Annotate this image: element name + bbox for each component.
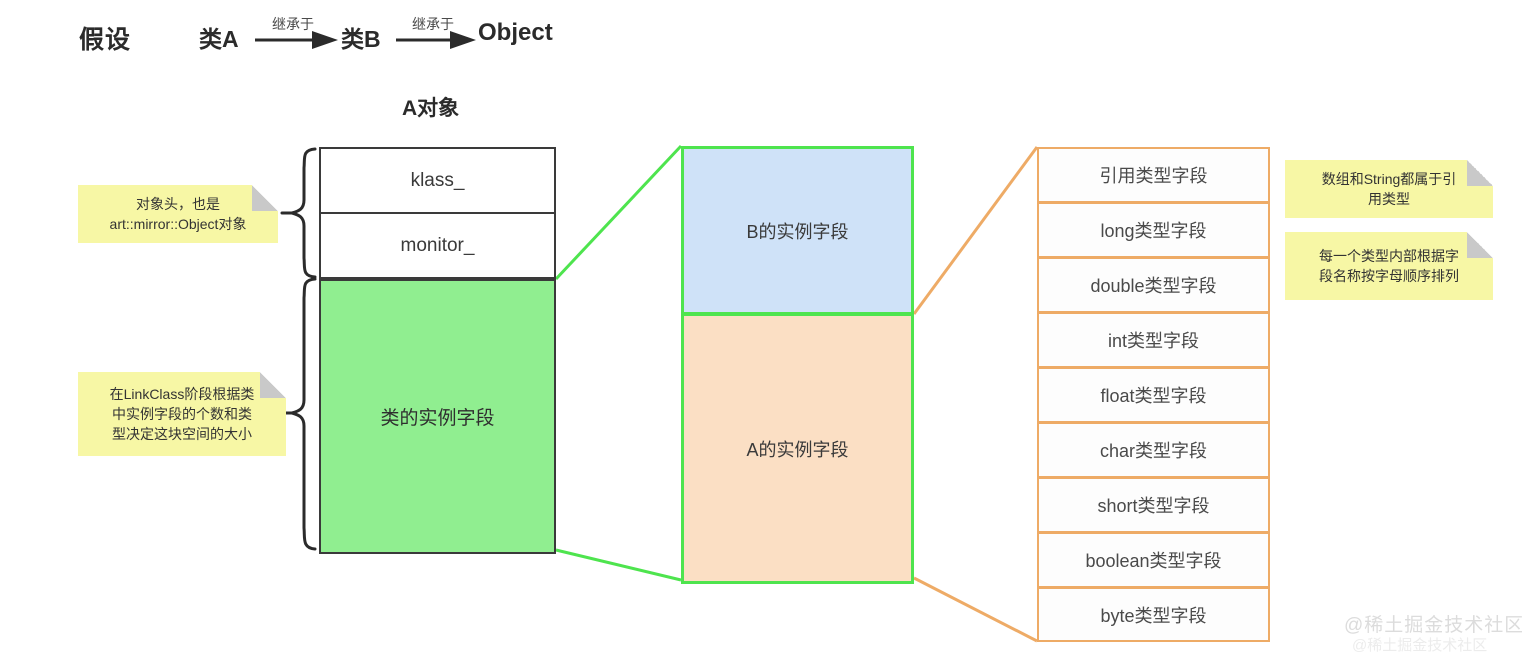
note-reference-type-text: 数组和String都属于引 用类型 (1322, 169, 1457, 210)
note-fold-corner-icon (260, 372, 286, 398)
note-fold-corner-icon (252, 185, 278, 211)
object-cell-klass: klass_ (319, 147, 556, 213)
field-row: int类型字段 (1037, 312, 1270, 367)
field-row: char类型字段 (1037, 422, 1270, 477)
assume-label: 假设 (79, 20, 131, 56)
note-linkclass: 在LinkClass阶段根据类 中实例字段的个数和类 型决定这块空间的大小 (78, 372, 286, 456)
field-row: byte类型字段 (1037, 587, 1270, 642)
diagram-canvas: 假设 类A 类B Object 继承于 继承于 A对象 klass_ monit… (0, 0, 1522, 654)
object-label: Object (478, 19, 553, 47)
note-alphabetical-order: 每一个类型内部根据字 段名称按字母顺序排列 (1285, 232, 1493, 300)
connector-orange (914, 147, 1037, 641)
watermark-shadow: @稀土掘金技术社区 (1352, 634, 1487, 655)
class-b-label: 类B (341, 20, 381, 54)
class-a-label: 类A (199, 20, 239, 54)
field-row: short类型字段 (1037, 477, 1270, 532)
a-object-title: A对象 (402, 92, 459, 122)
object-cell-instance-fields: 类的实例字段 (319, 279, 556, 554)
note-alphabetical-order-text: 每一个类型内部根据字 段名称按字母顺序排列 (1319, 246, 1459, 287)
note-fold-corner-icon (1467, 232, 1493, 258)
field-type-list: 引用类型字段 long类型字段 double类型字段 int类型字段 float… (1037, 147, 1270, 642)
field-row: boolean类型字段 (1037, 532, 1270, 587)
field-row: float类型字段 (1037, 367, 1270, 422)
note-object-header-text: 对象头，也是 art::mirror::Object对象 (110, 194, 247, 235)
middle-cell-a-fields: A的实例字段 (681, 314, 914, 584)
note-fold-corner-icon (1467, 160, 1493, 186)
object-layout-column: klass_ monitor_ 类的实例字段 (319, 147, 556, 554)
connector-green (556, 146, 681, 580)
field-row: double类型字段 (1037, 257, 1270, 312)
inherit-label-2: 继承于 (412, 14, 454, 34)
brace-instance-fields (282, 279, 315, 549)
middle-layout-column: B的实例字段 A的实例字段 (681, 146, 914, 584)
field-row: long类型字段 (1037, 202, 1270, 257)
middle-cell-b-fields: B的实例字段 (681, 146, 914, 314)
inherit-label-1: 继承于 (272, 14, 314, 34)
note-linkclass-text: 在LinkClass阶段根据类 中实例字段的个数和类 型决定这块空间的大小 (110, 384, 255, 445)
watermark: @稀土掘金技术社区 (1344, 610, 1522, 637)
brace-object-header (282, 149, 315, 277)
object-cell-monitor: monitor_ (319, 213, 556, 279)
note-object-header: 对象头，也是 art::mirror::Object对象 (78, 185, 278, 243)
note-reference-type: 数组和String都属于引 用类型 (1285, 160, 1493, 218)
field-row: 引用类型字段 (1037, 147, 1270, 202)
